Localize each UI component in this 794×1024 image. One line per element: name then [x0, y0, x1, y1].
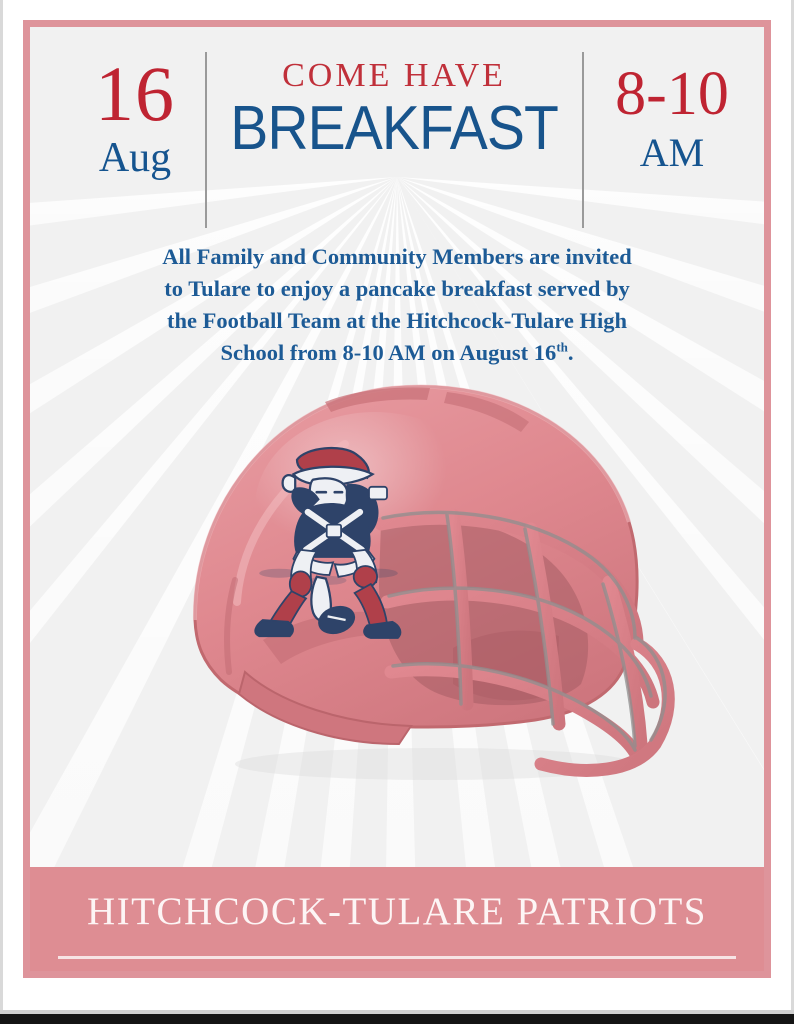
headline-block: COME HAVE BREAKFAST — [216, 57, 572, 161]
header-band: 16 Aug COME HAVE BREAKFAST 8-10 AM — [30, 27, 764, 237]
time-range: 8-10 — [592, 63, 752, 125]
time-block: 8-10 AM — [592, 63, 752, 175]
headline-kicker: COME HAVE — [216, 57, 572, 94]
date-month: Aug — [70, 135, 200, 181]
capture-edge-bottom-dark — [0, 1014, 794, 1024]
date-block: 16 Aug — [70, 57, 200, 181]
football-helmet-illustration — [185, 372, 690, 792]
date-day: 16 — [70, 57, 200, 131]
body-copy: All Family and Community Members are inv… — [78, 241, 716, 369]
bottom-banner: HITCHCOCK-TULARE PATRIOTS — [30, 867, 764, 971]
flyer-page: 16 Aug COME HAVE BREAKFAST 8-10 AM All F… — [0, 0, 794, 1024]
body-line-4-ordinal: th — [556, 339, 568, 354]
headline-main: BREAKFAST — [230, 96, 558, 161]
body-line-1: All Family and Community Members are inv… — [162, 244, 632, 269]
body-line-2: to Tulare to enjoy a pancake breakfast s… — [164, 276, 629, 301]
capture-edge-left — [0, 0, 3, 1024]
poster-frame: 16 Aug COME HAVE BREAKFAST 8-10 AM All F… — [23, 20, 771, 978]
divider-right — [582, 52, 584, 228]
divider-left — [205, 52, 207, 228]
body-line-4-post: . — [568, 340, 574, 365]
time-meridiem: AM — [592, 131, 752, 175]
body-line-4-pre: School from 8-10 AM on August 16 — [220, 340, 556, 365]
body-line-3: the Football Team at the Hitchcock-Tular… — [167, 308, 627, 333]
banner-title: HITCHCOCK-TULARE PATRIOTS — [30, 889, 764, 934]
banner-rule — [58, 956, 736, 959]
